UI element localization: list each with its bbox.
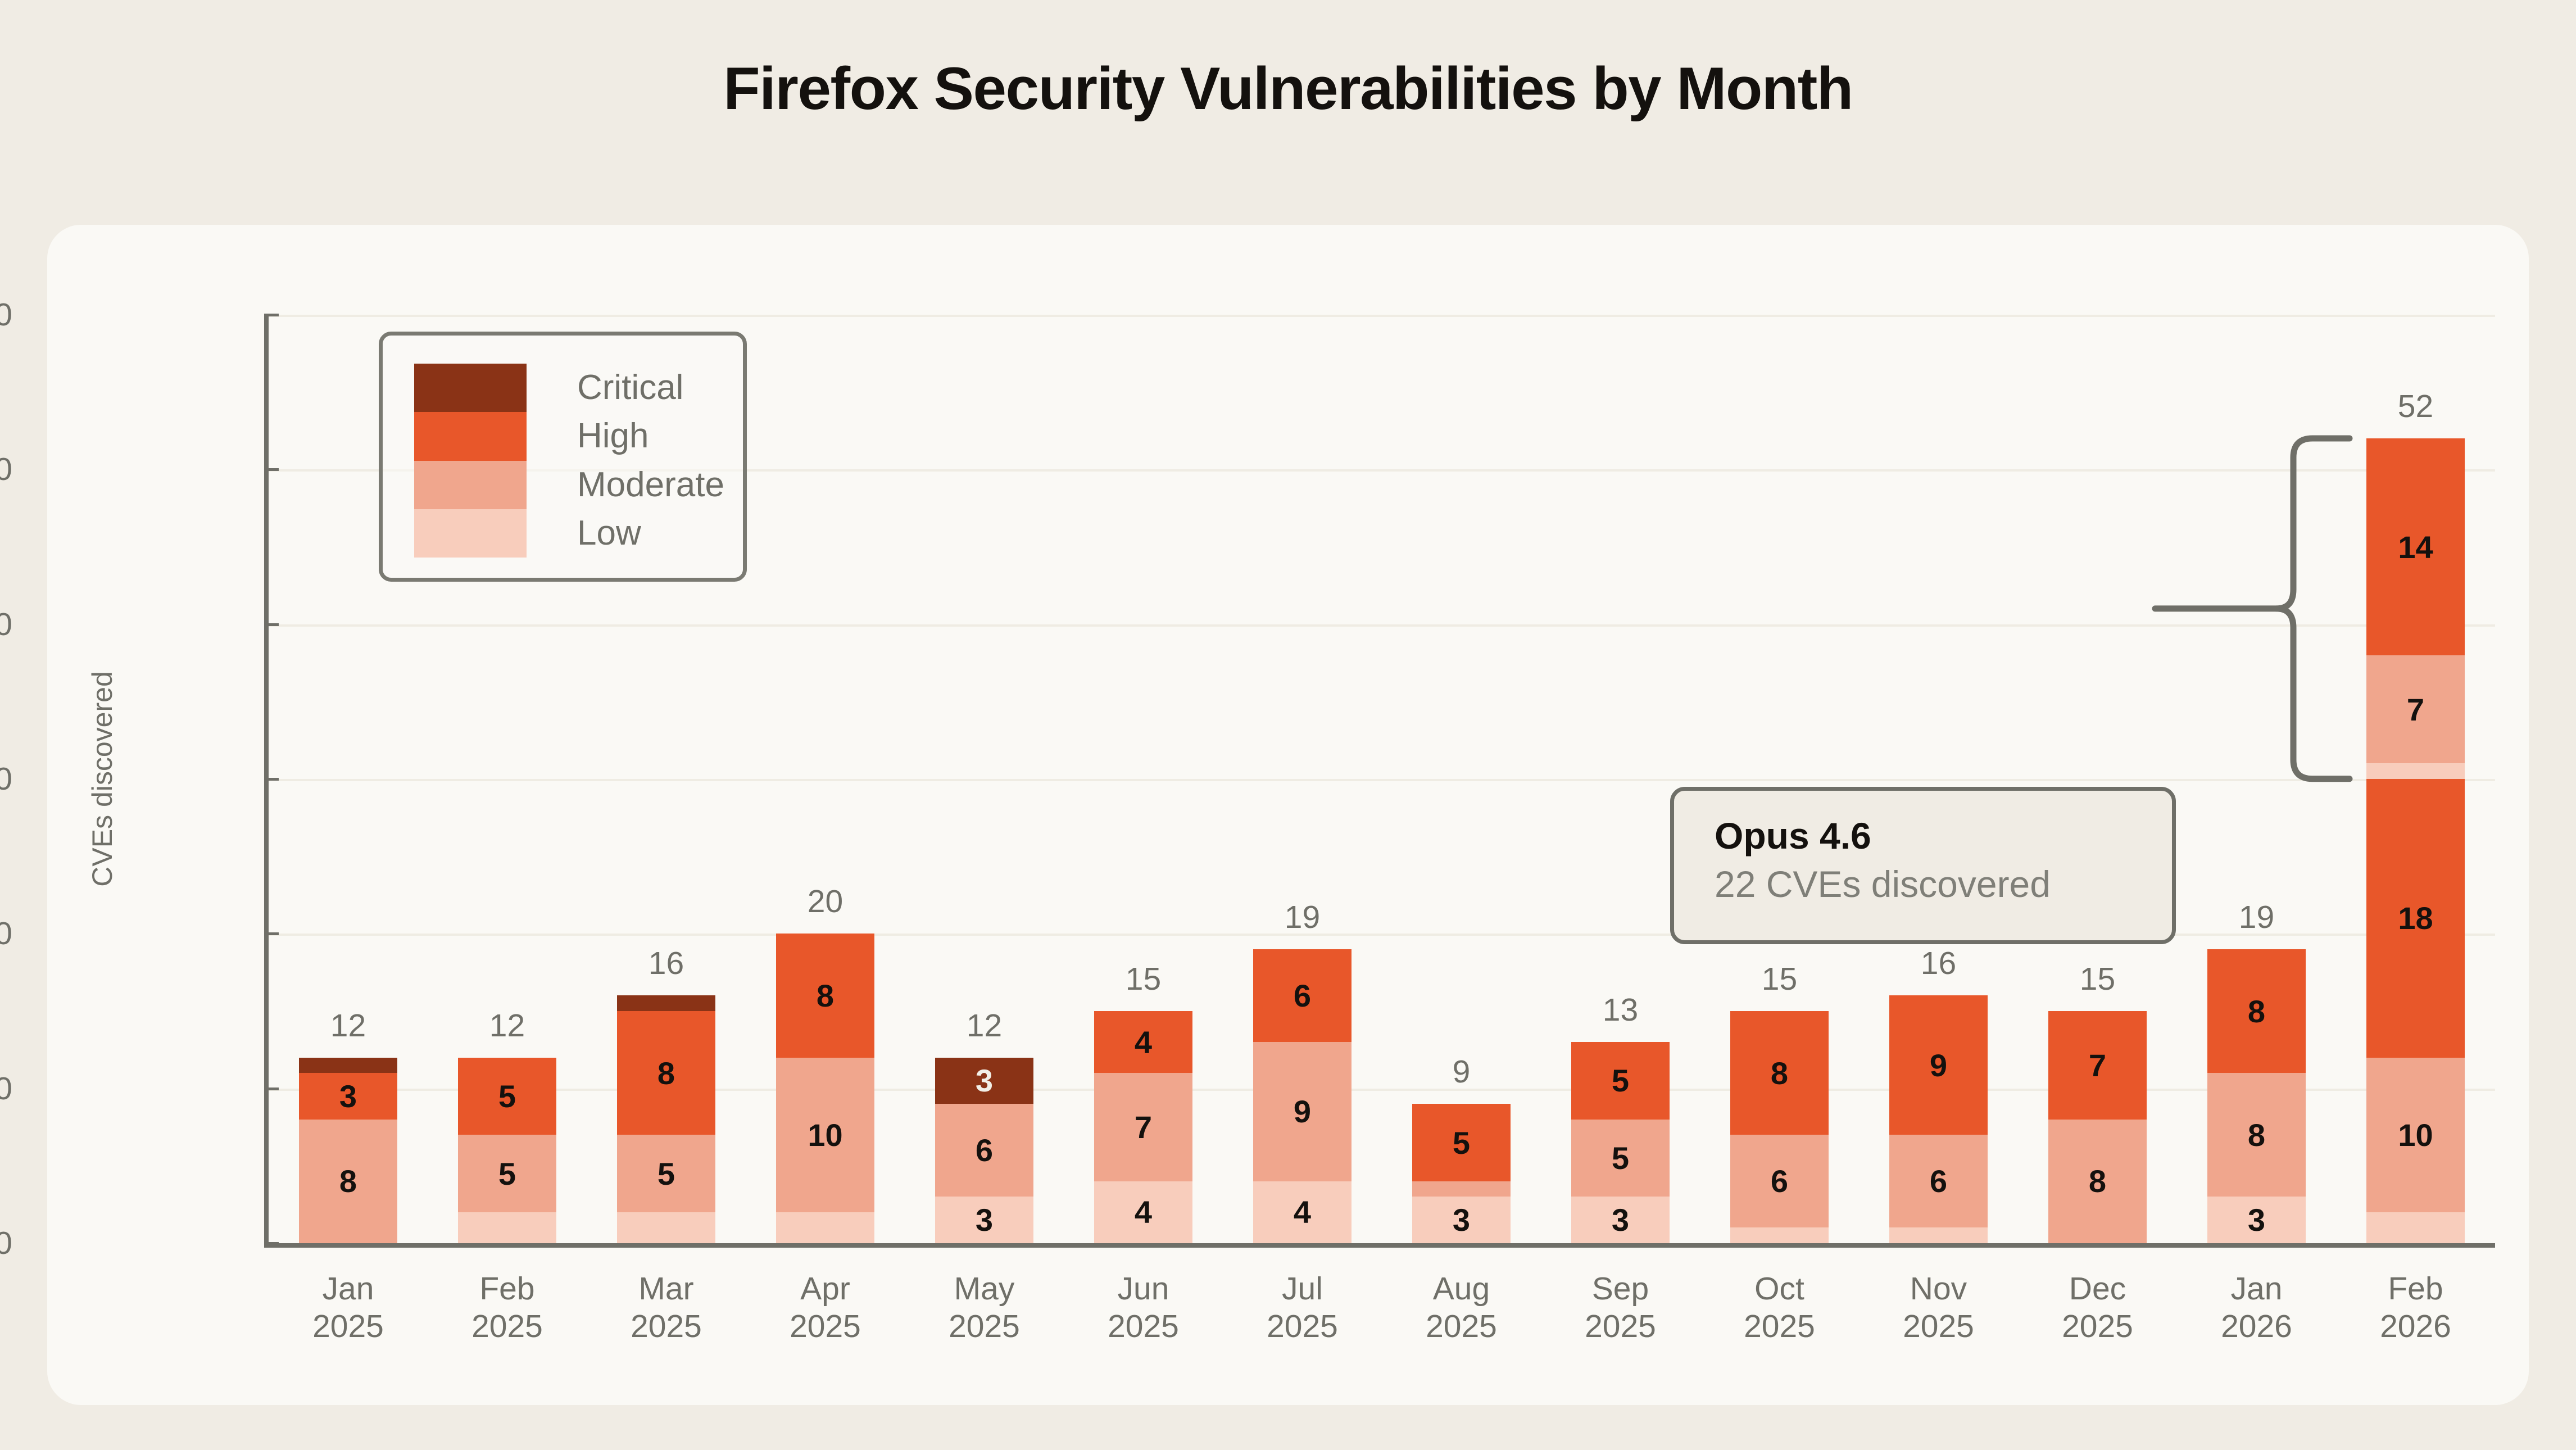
bar-segment-low[interactable] — [2366, 763, 2465, 779]
bar-segment-value: 3 — [2248, 1202, 2265, 1238]
y-axis-tick-label: 40 — [0, 606, 12, 643]
bar-segment-value: 3 — [976, 1202, 993, 1238]
bar-segment-value: 9 — [1930, 1047, 1947, 1084]
bar-segment-critical[interactable] — [617, 995, 715, 1011]
bar-total-label: 16 — [1854, 945, 2022, 982]
bar-segment-high[interactable]: 8 — [617, 1011, 715, 1135]
y-axis-title: CVEs discovered — [86, 671, 119, 887]
bar-segment-value: 10 — [808, 1117, 842, 1153]
bar-segment-value: 4 — [1135, 1024, 1152, 1061]
plot-area: 0102030405060 CVEs discovered 8312Jan202… — [269, 315, 2495, 1243]
y-axis-tick-label: 0 — [0, 1225, 12, 1262]
chart-card: 0102030405060 CVEs discovered 8312Jan202… — [47, 225, 2529, 1405]
bar-segment-value: 6 — [1771, 1163, 1788, 1199]
bar-segment-value: 9 — [1294, 1093, 1311, 1130]
y-axis-line — [264, 315, 269, 1248]
bar-segment-value: 8 — [817, 977, 834, 1014]
bar-segment-value: 5 — [657, 1156, 675, 1192]
bar-segment-critical[interactable]: 3 — [935, 1058, 1033, 1104]
bar-segment-moderate[interactable]: 7 — [1094, 1073, 1192, 1181]
bar-segment-moderate[interactable]: 6 — [1889, 1135, 1988, 1227]
annotation-bracket-icon — [2152, 432, 2354, 786]
bar-total-label: 20 — [741, 883, 909, 920]
bar-group[interactable]: 101871452Feb2026 — [2366, 315, 2465, 1243]
bar-segment-low[interactable]: 3 — [1571, 1197, 1670, 1243]
bar-total-label: 9 — [1377, 1053, 1545, 1090]
bar-segment-moderate[interactable]: 10 — [2366, 1058, 2465, 1212]
bar-segment-low[interactable]: 3 — [935, 1197, 1033, 1243]
bar-segment-low[interactable] — [617, 1212, 715, 1243]
bar-segment-high[interactable]: 5 — [458, 1058, 556, 1135]
bar-segment-value: 7 — [2089, 1047, 2106, 1084]
bar-total-label: 12 — [264, 1007, 432, 1044]
legend-swatch-critical[interactable] — [414, 364, 527, 412]
bar-segment-value: 8 — [2248, 1117, 2265, 1153]
bar-segment-high[interactable]: 3 — [299, 1073, 397, 1120]
bar-segment-value: 8 — [1771, 1055, 1788, 1091]
bar-total-label: 12 — [900, 1007, 1068, 1044]
bar-group[interactable]: 8715Dec2025 — [2048, 315, 2147, 1243]
bar-total-label: 12 — [423, 1007, 591, 1044]
bar-segment-high[interactable]: 8 — [2207, 949, 2306, 1073]
bar-segment-value: 3 — [1612, 1202, 1629, 1238]
bar-segment-low[interactable] — [458, 1212, 556, 1243]
y-axis-tick-label: 20 — [0, 915, 12, 952]
y-axis-tick-label: 30 — [0, 760, 12, 797]
y-axis-tick — [264, 1087, 279, 1090]
bar-group[interactable]: 35513Sep2025 — [1571, 315, 1670, 1243]
bar-segment-low[interactable]: 3 — [2207, 1197, 2306, 1243]
bar-total-label: 13 — [1536, 991, 1704, 1028]
annotation-subtitle: 22 CVEs discovered — [1715, 863, 2172, 905]
bar-segment-low[interactable] — [1889, 1227, 1988, 1243]
bar-segment-value: 3 — [339, 1078, 357, 1114]
bar-segment-value: 10 — [2398, 1117, 2433, 1153]
y-axis-tick-label: 60 — [0, 296, 12, 333]
bar-total-label: 15 — [1059, 960, 1227, 998]
bar-group[interactable]: 6815Oct2025 — [1730, 315, 1829, 1243]
bar-segment-value: 3 — [976, 1062, 993, 1099]
bar-total-label: 15 — [2013, 960, 2182, 998]
y-axis-tick — [264, 468, 279, 471]
bar-total-label: 19 — [2172, 899, 2341, 936]
bar-segment-value: 5 — [498, 1156, 516, 1192]
bar-group[interactable]: 36312May2025 — [935, 315, 1033, 1243]
bar-segment-high[interactable]: 6 — [1253, 949, 1352, 1042]
legend-swatch-low[interactable] — [414, 509, 527, 558]
bar-segment-moderate[interactable]: 5 — [1571, 1120, 1670, 1197]
y-axis-tick — [264, 623, 279, 626]
bar-segment-moderate[interactable]: 5 — [617, 1135, 715, 1212]
y-axis-tick-label: 50 — [0, 451, 12, 488]
bar-segment-critical[interactable] — [299, 1058, 397, 1073]
bar-group[interactable]: 10820Apr2025 — [776, 315, 874, 1243]
bar-segment-value: 7 — [1135, 1109, 1152, 1145]
bar-segment-moderate[interactable]: 5 — [458, 1135, 556, 1212]
x-axis-label: Feb2026 — [2320, 1270, 2511, 1346]
bar-segment-moderate[interactable]: 6 — [935, 1104, 1033, 1197]
legend-swatch-moderate[interactable] — [414, 461, 527, 509]
bar-segment-high[interactable]: 9 — [1889, 995, 1988, 1135]
y-axis-tick — [264, 778, 279, 781]
bar-group[interactable]: 359Aug2025 — [1412, 315, 1511, 1243]
bar-segment-high[interactable]: 14 — [2366, 438, 2465, 655]
bar-total-label: 15 — [1695, 960, 1863, 998]
bar-segment-low[interactable]: 4 — [1094, 1181, 1192, 1243]
y-axis-tick — [264, 932, 279, 935]
bar-total-label: 16 — [582, 945, 750, 982]
page-title: Firefox Security Vulnerabilities by Mont… — [0, 53, 2576, 123]
x-axis-label-line: 2026 — [2320, 1308, 2511, 1345]
bar-segment-value: 5 — [1612, 1140, 1629, 1176]
bar-segment-low[interactable]: 3 — [1412, 1197, 1511, 1243]
bar-segment-moderate[interactable]: 9 — [1253, 1042, 1352, 1181]
bar-group[interactable]: 47415Jun2025 — [1094, 315, 1192, 1243]
chart-legend: CriticalHighModerateLow — [379, 332, 747, 582]
y-axis-tick — [264, 314, 279, 316]
y-axis-tick — [264, 1242, 279, 1245]
legend-label-critical: Critical — [577, 364, 683, 412]
annotation-callout: Opus 4.6 22 CVEs discovered — [1670, 787, 2176, 944]
bar-segment-low[interactable]: 4 — [1253, 1181, 1352, 1243]
bar-segment-high[interactable]: 5 — [1412, 1104, 1511, 1181]
bar-segment-value: 6 — [976, 1132, 993, 1168]
bar-segment-high[interactable]: 4 — [1094, 1011, 1192, 1073]
legend-label-low: Low — [577, 509, 641, 558]
legend-swatches: CriticalHighModerateLow — [414, 364, 527, 558]
bar-segment-value: 8 — [2248, 993, 2265, 1030]
bar-segment-value: 14 — [2398, 529, 2433, 565]
annotation-title: Opus 4.6 — [1715, 814, 2172, 857]
bar-segment-high[interactable]: 18 — [2366, 779, 2465, 1058]
bar-segment-value: 4 — [1135, 1194, 1152, 1230]
bar-segment-high[interactable]: 7 — [2048, 1011, 2147, 1120]
bar-segment-value: 7 — [2407, 691, 2424, 728]
bar-segment-value: 6 — [1294, 977, 1311, 1014]
x-axis-line — [264, 1243, 2495, 1248]
bar-segment-value: 8 — [2089, 1163, 2106, 1199]
bar-segment-moderate[interactable]: 6 — [1730, 1135, 1829, 1227]
bar-segment-low[interactable] — [2366, 1212, 2465, 1243]
page-root: Firefox Security Vulnerabilities by Mont… — [0, 0, 2576, 1450]
bar-segment-high[interactable]: 5 — [1571, 1042, 1670, 1120]
bar-segment-moderate[interactable]: 7 — [2366, 655, 2465, 764]
bar-segment-moderate[interactable]: 8 — [2048, 1120, 2147, 1243]
bar-segment-value: 6 — [1930, 1163, 1947, 1199]
bar-segment-value: 5 — [1612, 1062, 1629, 1099]
x-axis-label-line: Feb — [2320, 1270, 2511, 1308]
bar-total-label: 52 — [2331, 388, 2500, 425]
y-axis-tick-label: 10 — [0, 1070, 12, 1107]
bar-group[interactable]: 49619Jul2025 — [1253, 315, 1352, 1243]
bar-segment-moderate[interactable]: 8 — [299, 1120, 397, 1243]
bar-segment-value: 5 — [1453, 1125, 1470, 1161]
bar-segment-high[interactable]: 8 — [1730, 1011, 1829, 1135]
gridline — [269, 315, 2495, 317]
bar-segment-moderate[interactable]: 10 — [776, 1058, 874, 1212]
bar-segment-value: 8 — [339, 1163, 357, 1199]
bar-segment-value: 8 — [657, 1055, 675, 1091]
bar-segment-moderate[interactable]: 8 — [2207, 1073, 2306, 1197]
bar-segment-low[interactable] — [1730, 1227, 1829, 1243]
bar-total-label: 19 — [1218, 899, 1386, 936]
legend-swatch-high[interactable] — [414, 412, 527, 460]
bar-segment-value: 4 — [1294, 1194, 1311, 1230]
legend-label-high: High — [577, 412, 649, 460]
bar-segment-value: 3 — [1453, 1202, 1470, 1238]
legend-label-moderate: Moderate — [577, 461, 724, 509]
bar-segment-low[interactable] — [776, 1212, 874, 1243]
bar-segment-moderate[interactable] — [1412, 1181, 1511, 1197]
bar-segment-value: 18 — [2398, 900, 2433, 936]
bar-segment-high[interactable]: 8 — [776, 934, 874, 1057]
bar-segment-value: 5 — [498, 1078, 516, 1114]
bar-group[interactable]: 6916Nov2025 — [1889, 315, 1988, 1243]
